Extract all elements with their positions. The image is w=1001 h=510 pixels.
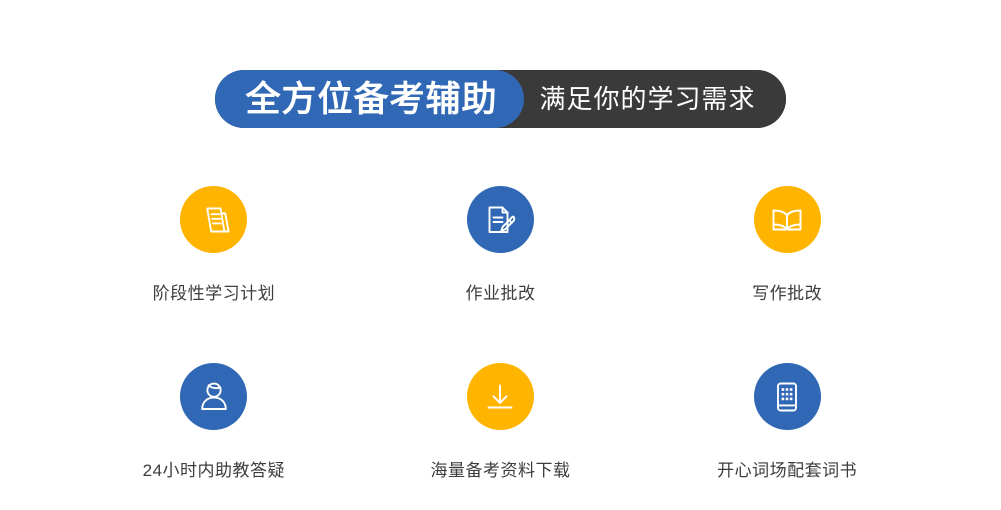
document-pen-icon: [480, 200, 520, 240]
feature-item-homework-correction[interactable]: 作业批改: [357, 186, 644, 311]
banner-subtitle-text: 满足你的学习需求: [540, 86, 756, 112]
feature-grid: 阶段性学习计划 作业批改: [71, 186, 931, 488]
feature-item-writing-correction[interactable]: 写作批改: [644, 186, 931, 311]
easel-plan-icon: [194, 200, 234, 240]
user-person-icon: [194, 377, 234, 417]
feature-item-study-plan[interactable]: 阶段性学习计划: [71, 186, 358, 311]
banner-pill: 全方位备考辅助 满足你的学习需求: [215, 70, 785, 128]
feature-icon-badge: [467, 363, 534, 430]
feature-label: 海量备考资料下载: [430, 462, 570, 479]
feature-icon-badge: [180, 186, 247, 253]
feature-item-materials-download[interactable]: 海量备考资料下载: [357, 363, 644, 488]
feature-icon-badge: [754, 186, 821, 253]
feature-label: 24小时内助教答疑: [143, 462, 285, 479]
feature-label: 阶段性学习计划: [153, 285, 276, 302]
phone-grid-icon: [767, 377, 807, 417]
feature-label: 开心词场配套词书: [717, 462, 857, 479]
headline-banner: 全方位备考辅助 满足你的学习需求: [0, 70, 1001, 128]
download-arrow-icon: [480, 377, 520, 417]
feature-icon-badge: [180, 363, 247, 430]
feature-label: 作业批改: [465, 285, 535, 302]
banner-highlight-pill: 全方位备考辅助: [215, 70, 523, 128]
banner-highlight-text: 全方位备考辅助: [245, 82, 497, 117]
feature-item-assistant-support[interactable]: 24小时内助教答疑: [71, 363, 358, 488]
feature-label: 写作批改: [752, 285, 822, 302]
open-book-icon: [767, 200, 807, 240]
feature-icon-badge: [467, 186, 534, 253]
feature-item-vocabulary-books[interactable]: 开心词场配套词书: [644, 363, 931, 488]
banner-subtitle-section: 满足你的学习需求: [512, 70, 786, 128]
feature-icon-badge: [754, 363, 821, 430]
